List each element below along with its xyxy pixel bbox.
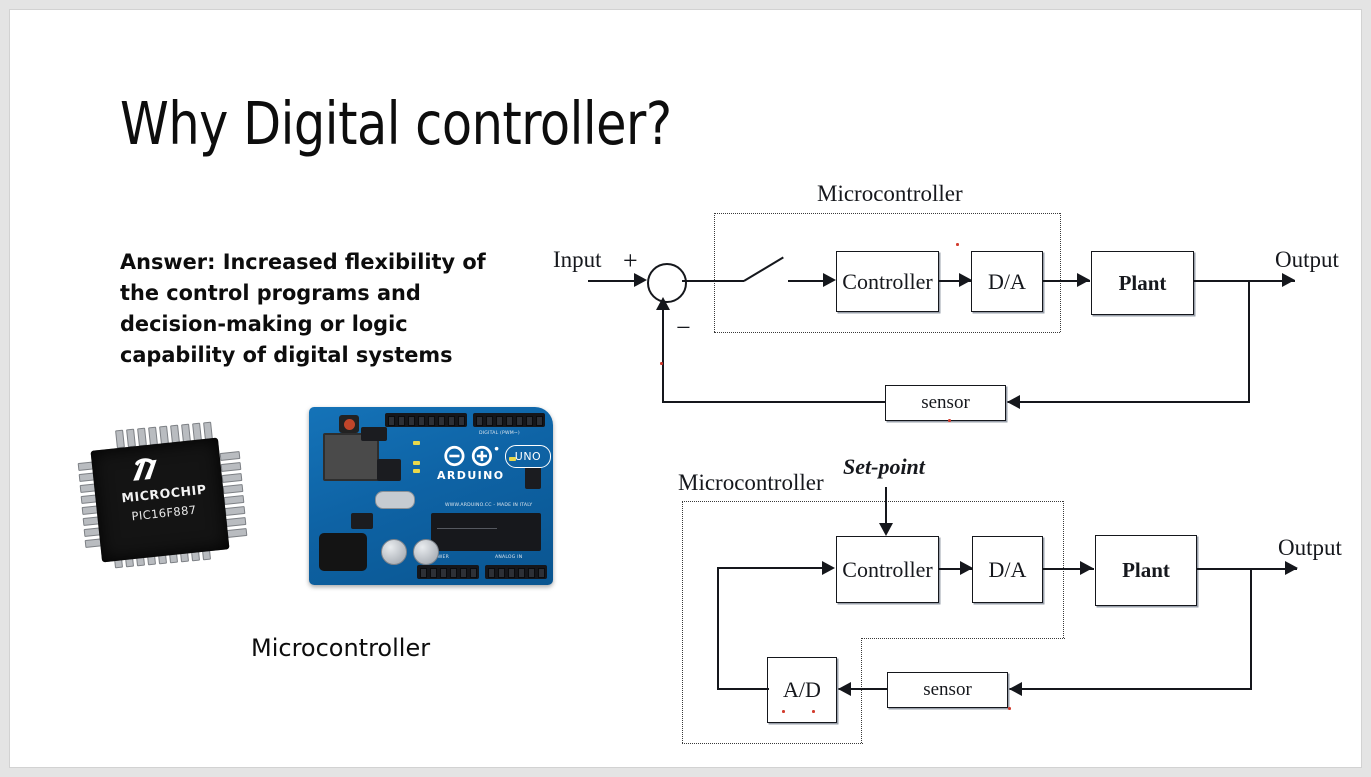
- block2-sensor-label: sensor: [923, 679, 972, 701]
- mcu2-boundary-right-lower: [861, 638, 862, 743]
- arrowhead2-into-sensor: [1009, 682, 1022, 696]
- block2-sensor[interactable]: sensor: [887, 672, 1008, 708]
- arrowhead2-output: [1285, 561, 1298, 575]
- wire2-ad-to-left: [717, 688, 769, 690]
- wire2-tap-to-sensor: [1007, 688, 1252, 690]
- mcu2-boundary-bottom: [682, 743, 863, 744]
- mcu2-boundary-step: [861, 638, 1065, 639]
- block2-controller[interactable]: Controller: [836, 536, 939, 603]
- block2-da-label: D/A: [989, 557, 1027, 583]
- block2-da-converter[interactable]: D/A: [972, 536, 1043, 603]
- stray-red-dot-e: [812, 710, 815, 713]
- slide-canvas: Why Digital controller? Answer: Increase…: [9, 9, 1362, 768]
- block2-plant[interactable]: Plant: [1095, 535, 1197, 606]
- wire2-left-to-controller: [717, 567, 830, 569]
- arrowhead2-into-ad: [838, 682, 851, 696]
- stray-red-dot-f: [1008, 707, 1011, 710]
- slide-frame: Why Digital controller? Answer: Increase…: [0, 0, 1371, 777]
- block-diagram-digital-control: Microcontroller Set-point Controller D/A…: [10, 10, 1362, 768]
- block2-ad-converter[interactable]: A/D: [767, 657, 837, 723]
- mcu2-boundary-label: Microcontroller: [678, 470, 824, 496]
- stray-red-dot-d: [782, 710, 785, 713]
- output2-label: Output: [1278, 535, 1342, 561]
- block2-ad-label: A/D: [783, 677, 821, 703]
- arrowhead-setpoint: [879, 523, 893, 536]
- mcu2-boundary-top: [682, 501, 1063, 502]
- arrowhead2-into-controller: [822, 561, 835, 575]
- block2-controller-label: Controller: [842, 557, 932, 583]
- setpoint-label: Set-point: [843, 454, 925, 480]
- wire2-output-tap-down: [1250, 568, 1252, 690]
- wire2-left-up: [717, 567, 719, 690]
- arrowhead2-da-to-plant: [1080, 561, 1093, 575]
- block2-plant-label: Plant: [1122, 558, 1170, 583]
- wire2-plant-to-output: [1197, 568, 1297, 570]
- mcu2-boundary-left: [682, 501, 683, 743]
